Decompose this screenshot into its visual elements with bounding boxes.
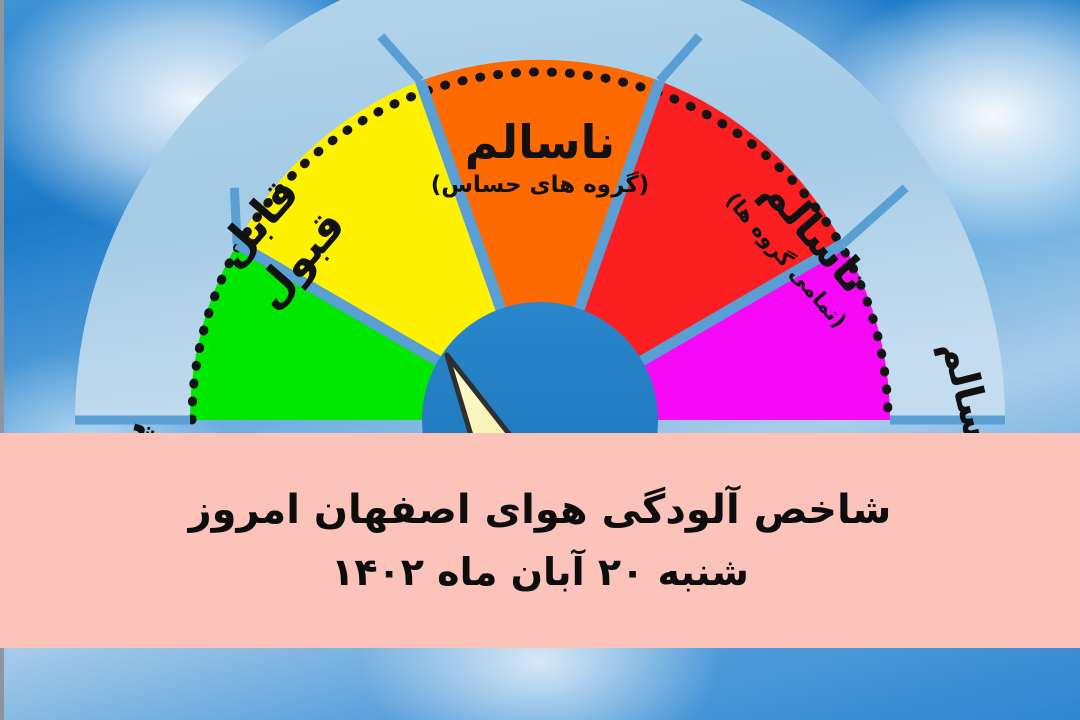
banner-title-line1: شاخص آلودگی هوای اصفهان امروز xyxy=(189,485,892,535)
gauge-label-unhealthy-sensitive-line1: ناسالم xyxy=(465,115,615,169)
banner-title-line2: شنبه ۲۰ آبان ماه ۱۴۰۲ xyxy=(331,549,749,597)
title-banner: شاخص آلودگی هوای اصفهان امروز شنبه ۲۰ آب… xyxy=(0,433,1080,648)
screenshot-root: پاک قابل قبول ناسالم (گروه های حساس) ناس… xyxy=(0,0,1080,720)
gauge-label-unhealthy-sensitive-line2: (گروه های حساس) xyxy=(431,171,650,198)
